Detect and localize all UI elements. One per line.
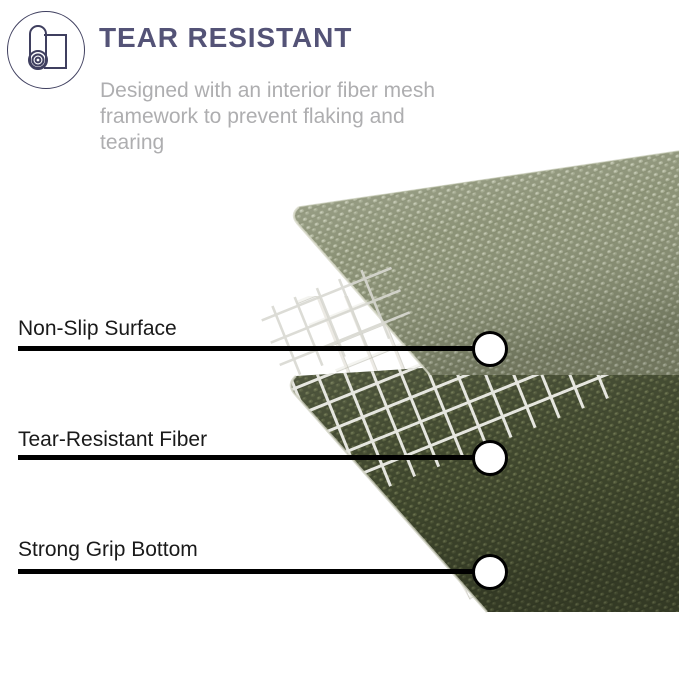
callout-dot-strong-grip-bottom: [472, 554, 508, 590]
callout-dot-tear-resistant-fiber: [472, 440, 508, 476]
callout-dot-non-slip-surface: [472, 331, 508, 367]
callout-group: Non-Slip Surface Tear-Resistant Fiber St…: [0, 0, 679, 680]
infographic-canvas: TEAR RESISTANT Designed with an interior…: [0, 0, 679, 680]
callout-line-non-slip-surface: [18, 346, 476, 351]
callout-line-tear-resistant-fiber: [18, 455, 476, 460]
callout-label-tear-resistant-fiber: Tear-Resistant Fiber: [18, 429, 207, 450]
callout-label-non-slip-surface: Non-Slip Surface: [18, 318, 177, 339]
callout-line-strong-grip-bottom: [18, 569, 476, 574]
callout-label-strong-grip-bottom: Strong Grip Bottom: [18, 539, 198, 560]
